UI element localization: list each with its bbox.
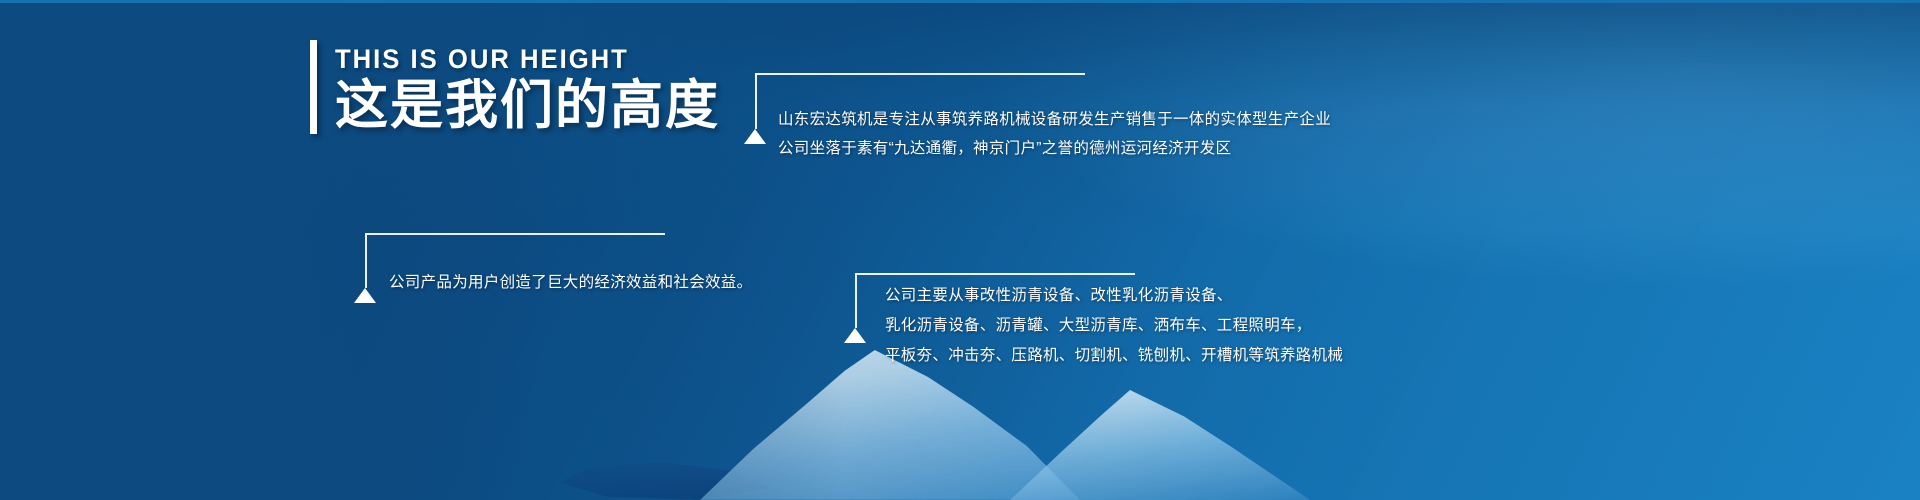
callout-line: 平板夯、冲击夯、压路机、切割机、铣刨机、开槽机等筑养路机械 (885, 341, 1343, 371)
callout-text-group: 公司产品为用户创造了巨大的经济效益和社会效益。 (389, 272, 752, 294)
callout-text-group: 公司主要从事改性沥青设备、改性乳化沥青设备、 乳化沥青设备、沥青罐、大型沥青库、… (885, 281, 1343, 371)
callout-middle-left: 公司产品为用户创造了巨大的经济效益和社会效益。 (365, 233, 745, 313)
callout-text-group: 山东宏达筑机是专注从事筑养路机械设备研发生产销售于一体的实体型生产企业 公司坐落… (778, 105, 1331, 163)
callout-line: 乳化沥青设备、沥青罐、大型沥青库、洒布车、工程照明车， (885, 311, 1343, 341)
triangle-marker-icon (354, 288, 376, 303)
hero-banner: THIS IS OUR HEIGHT 这是我们的高度 山东宏达筑机是专注从事筑养… (0, 0, 1920, 500)
callout-top-right: 山东宏达筑机是专注从事筑养路机械设备研发生产销售于一体的实体型生产企业 公司坐落… (755, 73, 1315, 163)
title-english: THIS IS OUR HEIGHT (335, 46, 701, 73)
title-chinese: 这是我们的高度 (335, 78, 720, 134)
hero-title-block: THIS IS OUR HEIGHT 这是我们的高度 (310, 40, 720, 134)
title-accent-bar (310, 40, 317, 134)
callout-line: 山东宏达筑机是专注从事筑养路机械设备研发生产销售于一体的实体型生产企业 (778, 105, 1331, 134)
title-text-group: THIS IS OUR HEIGHT 这是我们的高度 (335, 40, 720, 134)
callout-bottom-right: 公司主要从事改性沥青设备、改性乳化沥青设备、 乳化沥青设备、沥青罐、大型沥青库、… (855, 273, 1355, 393)
callout-line: 公司主要从事改性沥青设备、改性乳化沥青设备、 (885, 281, 1343, 311)
triangle-marker-icon (744, 129, 766, 144)
callout-line: 公司产品为用户创造了巨大的经济效益和社会效益。 (389, 272, 752, 294)
triangle-marker-icon (844, 328, 866, 343)
top-accent-line (0, 0, 1920, 3)
callout-line: 公司坐落于素有“九达通衢，神京门户”之誉的德州运河经济开发区 (778, 134, 1331, 163)
